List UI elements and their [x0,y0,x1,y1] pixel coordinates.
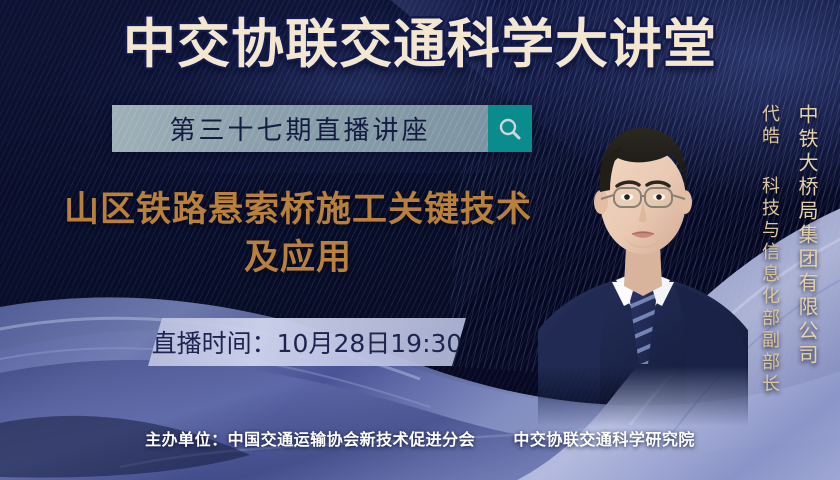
episode-banner: 第三十七期直播讲座 [112,105,532,152]
speaker-organization: 中铁大桥局集团有限公司 [793,104,822,368]
lecture-title-line-2: 及应用 [28,234,568,282]
broadcast-time-badge: 直播时间：10月28日19:30 [148,318,466,366]
speaker-portrait [538,96,748,426]
episode-label-box: 第三十七期直播讲座 [112,105,488,152]
search-button[interactable] [488,105,532,152]
broadcast-time-label: 直播时间：10月28日19:30 [152,324,463,360]
speaker-name: 代皓 [756,104,782,148]
organizer-secondary: 中交协联交通科学研究院 [513,430,695,449]
search-icon [497,116,523,142]
lecture-title: 山区铁路悬索桥施工关键技术 及应用 [28,186,568,282]
organizer-primary: 主办单位：中国交通运输协会新技术促进分会 [145,430,475,449]
page-title: 中交协联交通科学大讲堂 [0,14,840,76]
lecture-title-line-1: 山区铁路悬索桥施工关键技术 [28,186,568,234]
organizer-footer: 主办单位：中国交通运输协会新技术促进分会 中交协联交通科学研究院 [0,426,840,450]
speaker-role: 科技与信息化部副部长 [756,176,782,396]
lecture-poster: 中交协联交通科学大讲堂 第三十七期直播讲座 山区铁路悬索桥施工关键技术 及应用 … [0,0,840,480]
episode-label: 第三十七期直播讲座 [169,110,430,147]
